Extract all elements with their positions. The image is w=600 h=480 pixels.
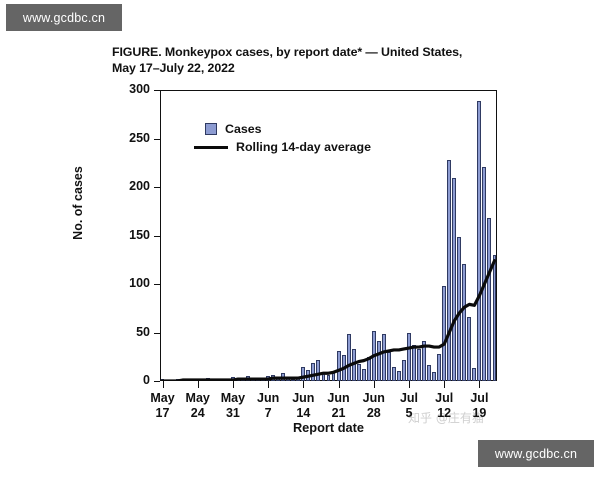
bar-jul-11 — [437, 354, 441, 381]
y-tick-mark-100 — [154, 284, 160, 285]
bar-jun-4 — [251, 379, 255, 381]
legend-item-cases: Cases — [205, 120, 371, 138]
bar-may-27 — [211, 379, 215, 381]
bar-jun-22 — [342, 355, 346, 381]
y-tick-label-50: 50 — [106, 325, 150, 339]
y-tick-mark-50 — [154, 333, 160, 334]
legend-swatch-icon — [205, 123, 217, 135]
y-axis-title: No. of cases — [71, 123, 85, 283]
bar-jul-22 — [493, 255, 497, 381]
y-tick-mark-0 — [154, 381, 160, 382]
bar-jun-8 — [271, 375, 275, 381]
y-tick-mark-150 — [154, 236, 160, 237]
x-tick-mark-6 — [374, 381, 375, 388]
x-tick-label-jul-19: Jul19 — [449, 391, 509, 420]
x-tick-mark-5 — [339, 381, 340, 388]
x-tick-mark-2 — [233, 381, 234, 388]
bar-jun-23 — [347, 334, 351, 381]
chart-legend: Cases Rolling 14-day average — [205, 120, 371, 156]
x-tick-mark-1 — [198, 381, 199, 388]
bar-jul-7 — [417, 349, 421, 381]
x-tick-month: Jul — [449, 391, 509, 406]
legend-line-icon — [194, 146, 228, 149]
bar-jun-24 — [352, 349, 356, 381]
bar-jun-5 — [256, 379, 260, 381]
bar-may-20 — [176, 379, 180, 381]
bar-jul-16 — [462, 264, 466, 381]
bar-jun-12 — [291, 379, 295, 381]
bar-jul-19 — [477, 101, 481, 381]
bar-jul-13 — [447, 160, 451, 381]
bar-jul-12 — [442, 286, 446, 381]
bar-jun-1 — [236, 378, 240, 381]
x-tick-mark-7 — [409, 381, 410, 388]
y-tick-mark-200 — [154, 187, 160, 188]
bar-jun-20 — [332, 371, 336, 381]
y-tick-mark-300 — [154, 90, 160, 91]
bar-jun-14 — [301, 367, 305, 381]
y-tick-label-150: 150 — [106, 228, 150, 242]
bar-jul-3 — [397, 371, 401, 381]
x-tick-mark-0 — [163, 381, 164, 388]
bar-jun-19 — [327, 375, 331, 381]
bar-jun-21 — [337, 351, 341, 381]
legend-label-cases: Cases — [225, 122, 262, 136]
bar-jun-15 — [306, 370, 310, 381]
bar-jun-2 — [241, 379, 245, 381]
bar-may-28 — [216, 379, 220, 381]
bar-jul-8 — [422, 341, 426, 381]
bar-jul-2 — [392, 367, 396, 381]
bar-jul-15 — [457, 237, 461, 381]
bar-jun-27 — [367, 357, 371, 381]
y-tick-label-250: 250 — [106, 131, 150, 145]
bar-jul-1 — [387, 352, 391, 381]
bar-jun-11 — [286, 378, 290, 381]
y-tick-label-100: 100 — [106, 276, 150, 290]
bar-may-25 — [201, 379, 205, 381]
x-tick-mark-4 — [303, 381, 304, 388]
bar-jun-28 — [372, 331, 376, 381]
bar-may-30 — [226, 379, 230, 381]
bar-jul-10 — [432, 372, 436, 381]
y-tick-label-0: 0 — [106, 373, 150, 387]
y-tick-label-200: 200 — [106, 179, 150, 193]
bar-jul-4 — [402, 360, 406, 381]
legend-label-rolling-average: Rolling 14-day average — [236, 140, 371, 154]
bar-jul-21 — [487, 218, 491, 381]
bar-jun-18 — [322, 372, 326, 381]
monkeypox-cases-chart: No. of cases 050100150200250300 May17May… — [0, 0, 600, 480]
y-tick-label-300: 300 — [106, 82, 150, 96]
x-tick-day: 19 — [449, 406, 509, 421]
bar-jun-30 — [382, 334, 386, 381]
bar-jun-17 — [316, 360, 320, 381]
bar-jul-9 — [427, 365, 431, 381]
x-tick-mark-9 — [479, 381, 480, 388]
bar-jul-6 — [412, 345, 416, 381]
bar-jul-18 — [472, 368, 476, 381]
bar-jun-6 — [261, 379, 265, 381]
bar-jun-29 — [377, 341, 381, 381]
bar-jun-3 — [246, 376, 250, 381]
bar-jun-10 — [281, 373, 285, 381]
bar-jun-25 — [357, 364, 361, 381]
y-tick-mark-250 — [154, 139, 160, 140]
bar-jun-16 — [311, 363, 315, 381]
bar-jun-9 — [276, 377, 280, 381]
bar-jun-26 — [362, 369, 366, 381]
bar-jul-17 — [467, 317, 471, 381]
x-axis-title: Report date — [160, 420, 497, 435]
bar-jul-5 — [407, 333, 411, 381]
bar-jun-13 — [296, 377, 300, 381]
bar-may-26 — [206, 378, 210, 381]
x-tick-mark-8 — [444, 381, 445, 388]
bar-jul-20 — [482, 167, 486, 381]
x-tick-mark-3 — [268, 381, 269, 388]
bar-jul-14 — [452, 178, 456, 381]
legend-item-rolling-average: Rolling 14-day average — [205, 138, 371, 156]
